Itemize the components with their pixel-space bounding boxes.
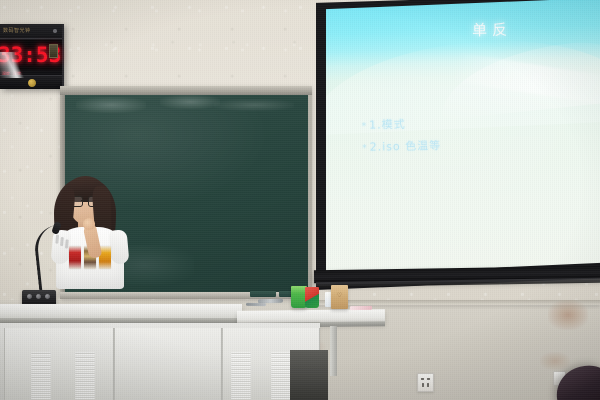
glasses-bridge: [81, 200, 88, 201]
clock-footer: [0, 75, 62, 89]
chalk-dust: [160, 95, 220, 109]
bullet-text: 2.iso 色温等: [370, 137, 442, 154]
pen[interactable]: [246, 303, 266, 306]
red-green-cup[interactable]: [305, 287, 319, 308]
bullet-marker-icon: *: [362, 122, 368, 132]
clock-side-module: [49, 44, 58, 58]
tshirt-graphic-red: [69, 246, 81, 269]
cabinet-vent: [31, 352, 51, 398]
cabinet-run: [0, 323, 320, 400]
list-item: * 1.模式: [362, 115, 441, 133]
clock-header: 数码智光钟: [0, 24, 62, 39]
chalk-dust: [76, 97, 146, 113]
blackboard-eraser[interactable]: [250, 291, 276, 297]
mic-knob[interactable]: [36, 294, 41, 299]
chalkboard-top-rail: [60, 86, 312, 95]
cabinet-door[interactable]: [114, 328, 222, 400]
clock-badge-icon: [28, 79, 36, 87]
bullet-text: 1.模式: [369, 116, 406, 133]
cabinet-vent: [271, 352, 291, 398]
table-leg: [330, 326, 337, 376]
bullet-marker-icon: *: [363, 144, 369, 154]
clock-brand-label: 数码智光钟: [3, 27, 31, 34]
projection-screen: 单反 * 1.模式 * 2.iso 色温等: [316, 0, 600, 290]
digital-wall-clock: 数码智光钟 33:53 温度 湿度: [0, 24, 64, 89]
mic-knob[interactable]: [45, 294, 50, 299]
pen[interactable]: [258, 299, 283, 304]
mic-knob[interactable]: [27, 294, 32, 299]
paper-slip[interactable]: [350, 306, 372, 310]
cabinet-door[interactable]: [4, 328, 114, 400]
list-item: * 2.iso 色温等: [362, 137, 441, 155]
clock-indicator-dot: [53, 29, 57, 33]
heart-icon: ♡: [336, 293, 343, 300]
cabinet-opening: [290, 350, 328, 400]
sleeve-stripe: [60, 237, 64, 246]
cabinet-vent: [231, 352, 251, 398]
slide-bullet-list: * 1.模式 * 2.iso 色温等: [362, 115, 442, 161]
slide-title: 单反: [471, 19, 511, 41]
cabinet-vent: [75, 352, 95, 398]
power-outlet[interactable]: [417, 373, 434, 392]
slide-surface: 单反 * 1.模式 * 2.iso 色温等: [326, 0, 600, 282]
chalk-dust: [214, 99, 294, 111]
classroom-photo: 数码智光钟 33:53 温度 湿度 单反: [0, 0, 600, 400]
